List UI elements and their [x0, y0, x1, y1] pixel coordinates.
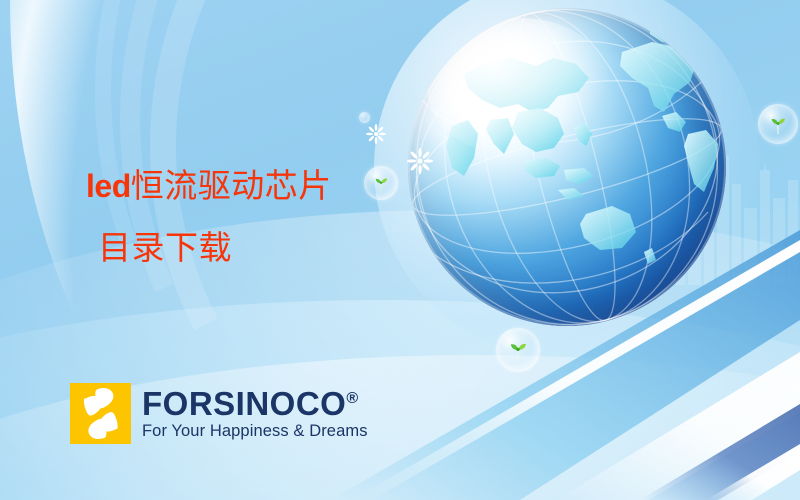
headline-block: led恒流驱动芯片 目录下载: [86, 166, 506, 269]
bubble-sprout-3: [758, 104, 798, 144]
headline-latin: led: [86, 168, 131, 204]
headline-cjk: 恒流驱动芯片: [131, 169, 332, 205]
headline-line-2: 目录下载: [98, 229, 506, 269]
four-petal-pinwheel-icon: [70, 383, 131, 444]
green-sprout-icon: [767, 114, 789, 136]
logo-brand-name: FORSINOCO: [142, 385, 346, 422]
headline-line-1: led恒流驱动芯片: [86, 166, 506, 207]
logo-wordmark: FORSINOCO®: [142, 387, 368, 421]
logo-text-lockup: FORSINOCO® For Your Happiness & Dreams: [142, 387, 368, 441]
green-sprout-icon: [506, 338, 531, 363]
brand-logo[interactable]: FORSINOCO® For Your Happiness & Dreams: [70, 383, 368, 444]
bubble-sprout-2: [496, 328, 540, 372]
banner-canvas: led恒流驱动芯片 目录下载 FORSINOCO® For Your Happi…: [0, 0, 800, 500]
logo-tagline: For Your Happiness & Dreams: [142, 422, 368, 441]
registered-trademark-icon: ®: [346, 390, 358, 407]
bubble-small: [359, 112, 370, 123]
